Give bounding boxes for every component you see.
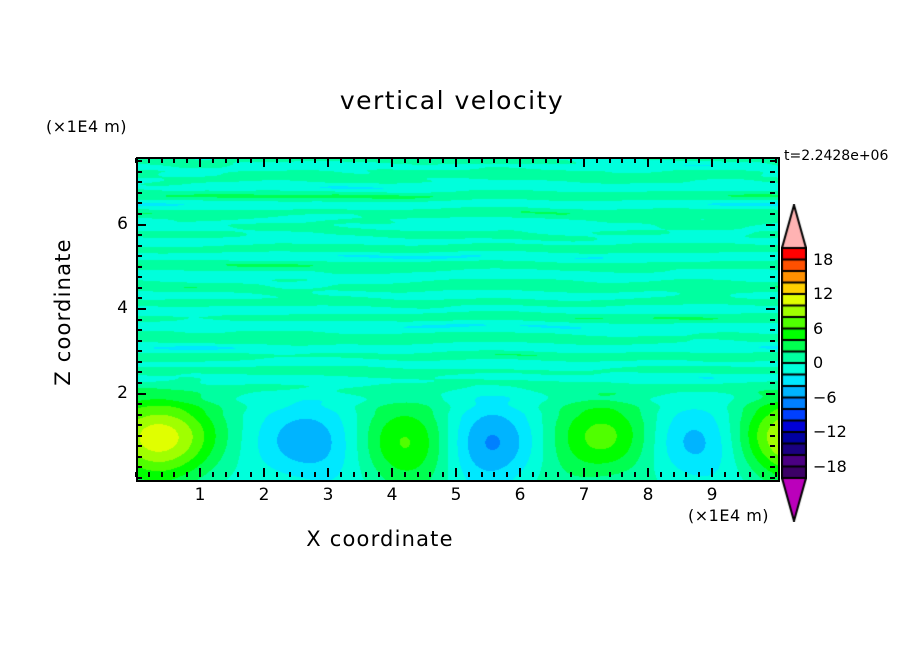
chart-title: vertical velocity	[0, 86, 904, 115]
y-axis-tick	[137, 382, 142, 384]
x-tick-label: 4	[372, 485, 412, 505]
x-axis-tick-top	[353, 158, 355, 163]
y-tick-label: 6	[88, 214, 128, 234]
y-axis-tick	[137, 192, 142, 194]
x-axis-tick-top	[212, 158, 214, 163]
y-axis-tick-right	[770, 329, 775, 331]
x-axis-tick	[314, 472, 316, 477]
y-axis-tick-right	[770, 181, 775, 183]
x-axis-tick-top	[532, 158, 534, 163]
x-axis-tick	[583, 468, 585, 477]
x-tick-label: 3	[308, 485, 348, 505]
x-axis-tick	[455, 468, 457, 477]
x-axis-tick-top	[519, 158, 521, 167]
y-tick-label: 4	[88, 298, 128, 318]
y-axis-tick-right	[770, 350, 775, 352]
x-axis-tick-top	[685, 158, 687, 163]
x-axis-tick-top	[365, 158, 367, 163]
colorbar-tick-label: −6	[813, 388, 837, 407]
colorbar-tick-label: 0	[813, 353, 823, 372]
x-axis-tick-top	[481, 158, 483, 163]
y-axis-tick	[137, 308, 146, 310]
y-axis-tick-right	[770, 477, 775, 479]
y-axis-tick-right	[770, 382, 775, 384]
y-axis-tick-right	[766, 224, 775, 226]
y-axis-tick	[137, 350, 142, 352]
y-axis-tick-right	[770, 403, 775, 405]
y-axis-tick-right	[770, 361, 775, 363]
colorbar-gradient	[781, 204, 807, 522]
y-axis-tick-right	[770, 213, 775, 215]
x-axis-tick	[724, 472, 726, 477]
time-annotation: t=2.2428e+06	[784, 148, 888, 164]
y-axis-tick-right	[770, 466, 775, 468]
x-axis-tick-top	[442, 158, 444, 163]
y-axis-tick-right	[770, 287, 775, 289]
plot-area	[136, 157, 780, 482]
y-axis-tick-right	[770, 340, 775, 342]
y-axis-tick	[137, 160, 142, 162]
x-axis-tick	[468, 472, 470, 477]
x-axis-tick	[199, 468, 201, 477]
x-axis-tick-top	[148, 158, 150, 163]
y-axis-tick-right	[770, 414, 775, 416]
x-axis-tick	[737, 472, 739, 477]
x-axis-tick-top	[506, 158, 508, 163]
x-axis-tick	[609, 472, 611, 477]
y-axis-tick-right	[766, 393, 775, 395]
y-axis-tick	[137, 287, 142, 289]
x-axis-tick-top	[186, 158, 188, 163]
y-axis-tick	[137, 340, 142, 342]
y-axis-tick	[137, 466, 142, 468]
x-axis-tick-top	[557, 158, 559, 163]
x-axis-tick-top	[404, 158, 406, 163]
x-axis-tick	[442, 472, 444, 477]
colorbar-tick-label: −12	[813, 422, 847, 441]
y-axis-tick-right	[770, 371, 775, 373]
x-axis-tick	[225, 472, 227, 477]
y-axis-tick	[137, 414, 142, 416]
x-axis-tick-top	[455, 158, 457, 167]
y-axis-unit-label: (×1E4 m)	[46, 117, 127, 136]
y-axis-tick	[137, 329, 142, 331]
y-axis-tick-right	[770, 234, 775, 236]
x-axis-tick	[301, 472, 303, 477]
x-axis-tick	[762, 472, 764, 477]
y-tick-label: 2	[88, 383, 128, 403]
x-axis-tick	[327, 468, 329, 477]
x-axis-tick-top	[161, 158, 163, 163]
y-axis-tick	[137, 445, 142, 447]
y-axis-tick	[137, 234, 142, 236]
y-axis-tick	[137, 213, 142, 215]
x-axis-tick-top	[711, 158, 713, 167]
colorbar-tick-label: 12	[813, 284, 833, 303]
x-axis-tick	[161, 472, 163, 477]
x-axis-tick	[417, 472, 419, 477]
x-axis-tick	[186, 472, 188, 477]
y-axis-tick	[137, 403, 142, 405]
y-axis-tick-right	[770, 424, 775, 426]
x-axis-tick-top	[596, 158, 598, 163]
y-axis-tick-right	[770, 160, 775, 162]
y-axis-title: Z coordinate	[51, 212, 75, 412]
x-axis-tick	[250, 472, 252, 477]
x-axis-tick-top	[621, 158, 623, 163]
y-axis-tick	[137, 424, 142, 426]
y-axis-tick	[137, 393, 146, 395]
x-axis-tick	[263, 468, 265, 477]
x-axis-tick-top	[775, 158, 777, 163]
x-axis-tick-top	[749, 158, 751, 163]
y-axis-tick	[137, 361, 142, 363]
x-axis-tick-top	[493, 158, 495, 163]
y-axis-tick	[137, 171, 142, 173]
x-axis-tick	[532, 472, 534, 477]
x-axis-tick	[660, 472, 662, 477]
x-axis-tick	[173, 472, 175, 477]
x-axis-tick-top	[737, 158, 739, 163]
x-axis-tick	[148, 472, 150, 477]
x-axis-tick	[647, 468, 649, 477]
x-axis-tick	[365, 472, 367, 477]
x-axis-tick	[391, 468, 393, 477]
x-axis-tick-top	[762, 158, 764, 163]
x-tick-label: 8	[628, 485, 668, 505]
x-axis-tick	[353, 472, 355, 477]
x-axis-tick	[404, 472, 406, 477]
x-axis-tick-top	[545, 158, 547, 163]
y-axis-tick-right	[770, 456, 775, 458]
y-axis-tick	[137, 456, 142, 458]
y-axis-tick	[137, 202, 142, 204]
x-axis-tick-top	[647, 158, 649, 167]
x-tick-label: 7	[564, 485, 604, 505]
x-tick-label: 9	[692, 485, 732, 505]
x-axis-tick-top	[237, 158, 239, 163]
y-axis-tick	[137, 255, 142, 257]
x-axis-tick-top	[660, 158, 662, 163]
x-axis-tick	[557, 472, 559, 477]
x-axis-tick-top	[327, 158, 329, 167]
colorbar-tick-label: 18	[813, 250, 833, 269]
x-axis-tick-top	[673, 158, 675, 163]
x-axis-tick	[276, 472, 278, 477]
x-axis-tick-top	[199, 158, 201, 167]
x-tick-label: 2	[244, 485, 284, 505]
y-axis-tick-right	[770, 445, 775, 447]
figure-canvas: vertical velocity (×1E4 m) t=2.2428e+06 …	[0, 0, 904, 654]
y-axis-tick-right	[770, 171, 775, 173]
x-axis-tick	[237, 472, 239, 477]
x-axis-tick	[596, 472, 598, 477]
y-axis-tick	[137, 477, 142, 479]
y-axis-tick-right	[770, 192, 775, 194]
x-tick-label: 1	[180, 485, 220, 505]
x-axis-title: X coordinate	[0, 527, 760, 551]
x-axis-tick-top	[340, 158, 342, 163]
y-axis-tick-right	[770, 255, 775, 257]
y-axis-tick	[137, 181, 142, 183]
x-axis-tick	[289, 472, 291, 477]
y-axis-tick	[137, 266, 142, 268]
y-axis-tick-right	[770, 202, 775, 204]
x-axis-tick	[378, 472, 380, 477]
x-axis-tick	[429, 472, 431, 477]
x-axis-tick-top	[225, 158, 227, 163]
x-axis-tick-top	[417, 158, 419, 163]
contour-field	[138, 159, 778, 480]
x-axis-tick-top	[698, 158, 700, 163]
y-axis-tick	[137, 245, 142, 247]
y-axis-tick-right	[770, 245, 775, 247]
x-axis-tick-top	[609, 158, 611, 163]
x-axis-tick-top	[263, 158, 265, 167]
x-axis-tick	[698, 472, 700, 477]
colorbar-tick-label: 6	[813, 319, 823, 338]
y-axis-tick-right	[770, 297, 775, 299]
x-axis-tick-top	[314, 158, 316, 163]
y-axis-tick	[137, 297, 142, 299]
colorbar	[781, 204, 807, 522]
x-axis-tick-top	[583, 158, 585, 167]
x-axis-tick-top	[468, 158, 470, 163]
x-tick-label: 6	[500, 485, 540, 505]
x-axis-tick-top	[634, 158, 636, 163]
y-axis-tick	[137, 276, 142, 278]
x-axis-tick-top	[391, 158, 393, 167]
x-axis-tick	[481, 472, 483, 477]
x-axis-tick-top	[429, 158, 431, 163]
y-axis-tick	[137, 435, 142, 437]
y-axis-tick-right	[770, 276, 775, 278]
x-axis-tick	[673, 472, 675, 477]
x-tick-label: 5	[436, 485, 476, 505]
x-axis-tick-top	[276, 158, 278, 163]
x-axis-tick-top	[289, 158, 291, 163]
y-axis-tick	[137, 319, 142, 321]
y-axis-tick	[137, 371, 142, 373]
x-axis-tick	[749, 472, 751, 477]
x-axis-tick	[634, 472, 636, 477]
x-axis-tick-top	[301, 158, 303, 163]
y-axis-tick	[137, 224, 146, 226]
x-axis-tick	[570, 472, 572, 477]
x-axis-unit-label: (×1E4 m)	[688, 506, 769, 525]
x-axis-tick-top	[250, 158, 252, 163]
x-axis-tick	[685, 472, 687, 477]
x-axis-tick	[493, 472, 495, 477]
x-axis-tick	[621, 472, 623, 477]
x-axis-tick	[519, 468, 521, 477]
colorbar-tick-label: −18	[813, 457, 847, 476]
y-axis-tick-right	[770, 319, 775, 321]
x-axis-tick-top	[570, 158, 572, 163]
x-axis-tick	[212, 472, 214, 477]
y-axis-tick-right	[770, 435, 775, 437]
y-axis-tick-right	[770, 266, 775, 268]
x-axis-tick	[545, 472, 547, 477]
x-axis-tick	[775, 472, 777, 477]
x-axis-tick-top	[378, 158, 380, 163]
x-axis-tick	[340, 472, 342, 477]
x-axis-tick-top	[173, 158, 175, 163]
x-axis-tick	[711, 468, 713, 477]
y-axis-tick-right	[766, 308, 775, 310]
x-axis-tick	[506, 472, 508, 477]
x-axis-tick-top	[724, 158, 726, 163]
